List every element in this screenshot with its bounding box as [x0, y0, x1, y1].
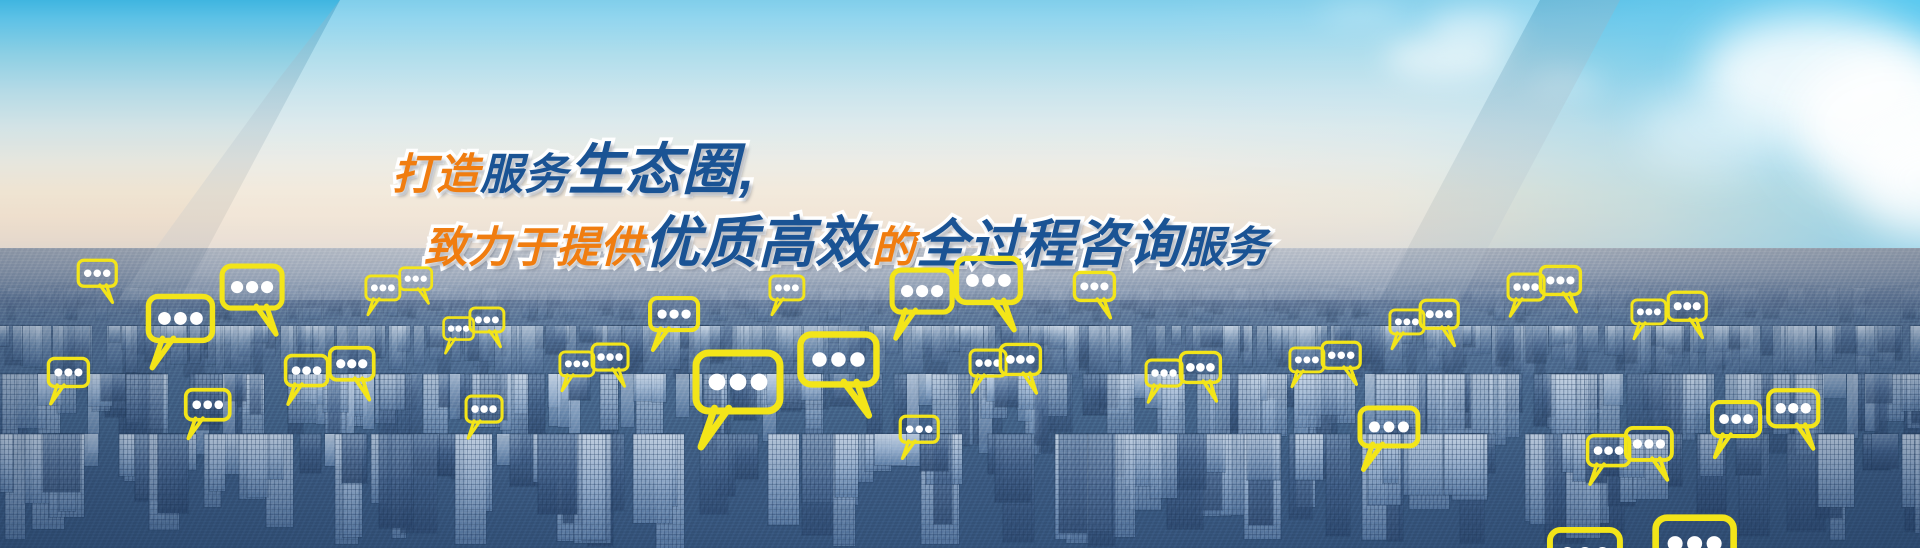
speech-bubble-icon: [1177, 349, 1228, 404]
speech-bubble-icon: [794, 328, 887, 422]
speech-bubble-icon: [1319, 339, 1367, 388]
speech-bubble-icon: [1622, 424, 1680, 484]
speech-bubble-icon: [1649, 511, 1744, 548]
speech-bubble-icon: [1708, 398, 1768, 461]
speech-bubble-icon: [326, 344, 381, 403]
speech-bubble-icon: [767, 273, 811, 318]
speech-bubble-icon: [397, 265, 438, 306]
speech-bubble-icon: [182, 386, 237, 442]
speech-bubble-icon: [45, 355, 96, 407]
speech-bubble-icon: [217, 261, 291, 339]
cloud-shape: [1530, 70, 1600, 96]
speech-bubble-icon: [1355, 403, 1427, 474]
speech-bubble-icon: [1665, 289, 1713, 341]
cloud-shape: [1430, 10, 1520, 48]
speech-bubble-layer: [0, 248, 1920, 548]
speech-bubble-icon: [951, 253, 1030, 335]
speech-bubble-icon: [1764, 386, 1827, 453]
speech-bubble-icon: [463, 393, 509, 441]
cloud-shape: [1640, 90, 1790, 170]
speech-bubble-icon: [143, 291, 222, 373]
speech-bubble-icon: [1544, 524, 1630, 548]
speech-bubble-icon: [646, 294, 706, 354]
cloud-shape: [1320, 0, 1400, 26]
hero-banner: 打造服务生态圈, 致力于提供优质高效的全过程咨询服务: [0, 0, 1920, 548]
speech-bubble-icon: [1071, 269, 1122, 321]
speech-bubble-icon: [997, 341, 1048, 396]
speech-bubble-icon: [467, 305, 511, 350]
speech-bubble-icon: [589, 341, 635, 389]
speech-bubble-icon: [689, 346, 791, 454]
speech-bubble-icon: [1417, 297, 1465, 349]
speech-bubble-icon: [1537, 263, 1588, 315]
speech-bubble-icon: [897, 413, 945, 462]
speech-bubble-icon: [75, 257, 123, 306]
